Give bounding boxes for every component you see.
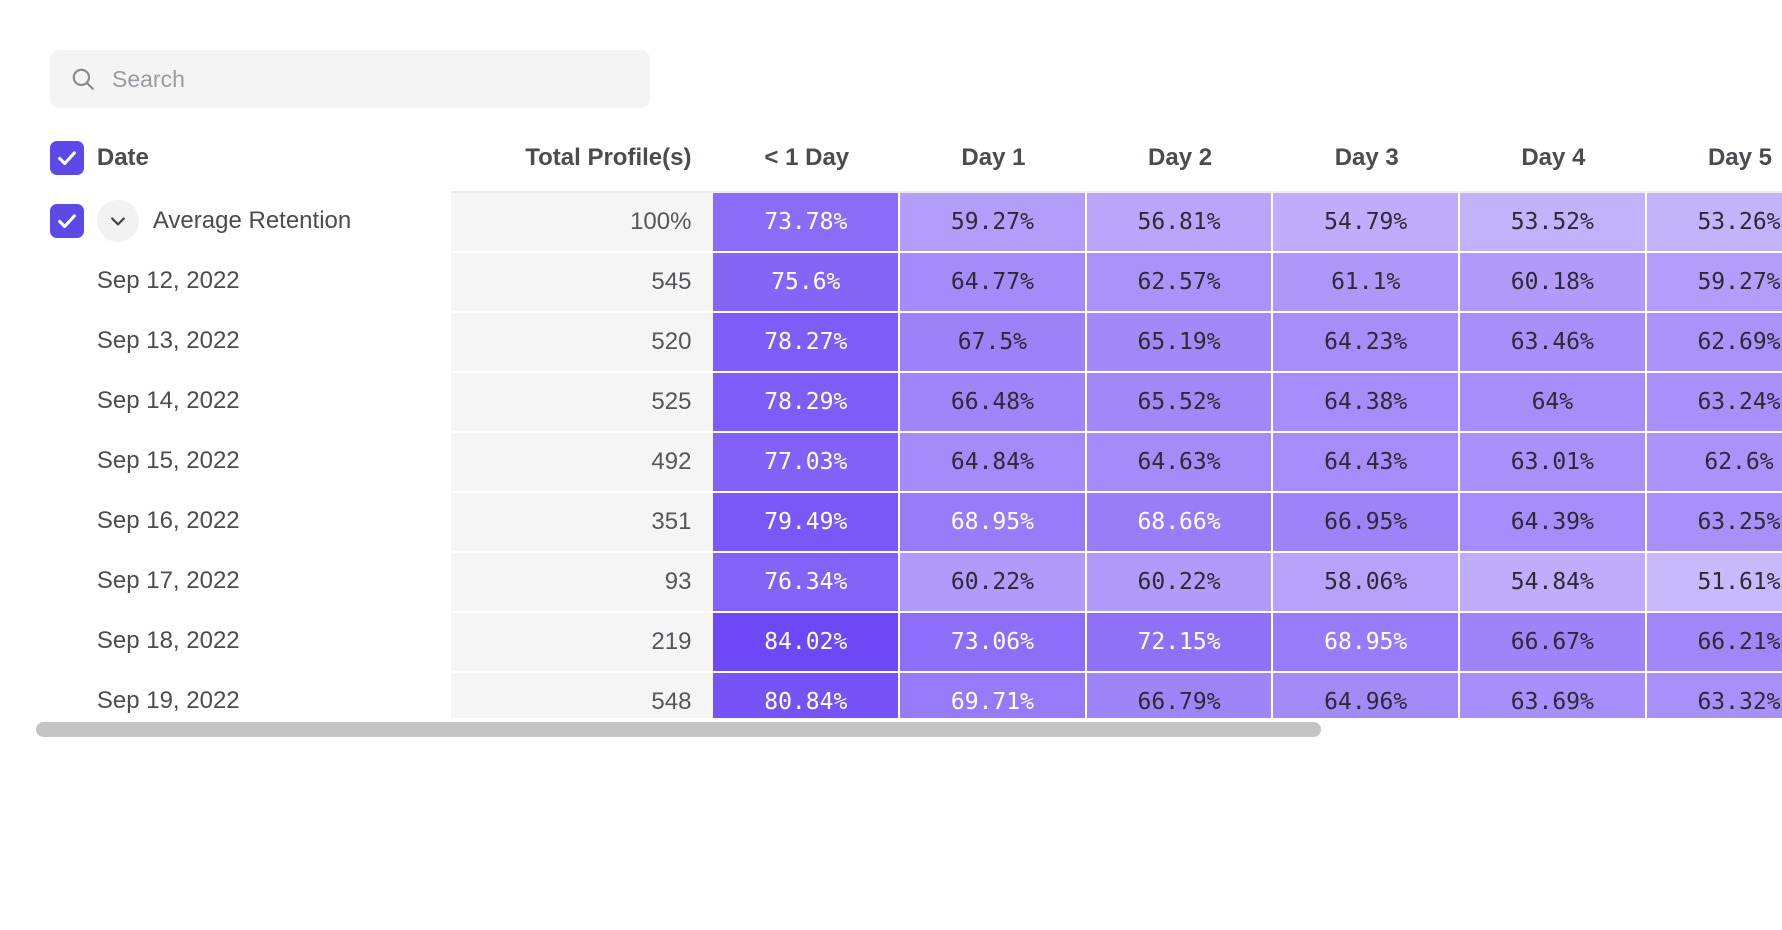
row-date: Sep 15, 2022	[97, 431, 451, 491]
retention-cell-day-4[interactable]: 63.69%	[1460, 671, 1647, 720]
retention-cell-day-4[interactable]: 54.84%	[1460, 551, 1647, 611]
row-total-profiles: 548	[451, 671, 713, 720]
retention-cell-day-3[interactable]: 66.95%	[1273, 491, 1460, 551]
row-total-profiles: 492	[451, 431, 713, 491]
retention-cell-day-0[interactable]: 77.03%	[713, 431, 900, 491]
summary-row: Average Retention100%73.78%59.27%56.81%5…	[0, 191, 1782, 251]
retention-cell-day-0[interactable]: 78.29%	[713, 371, 900, 431]
table-body: Average Retention100%73.78%59.27%56.81%5…	[0, 191, 1782, 720]
row-date: Sep 19, 2022	[97, 671, 451, 720]
select-all-header	[0, 125, 97, 191]
retention-table-scroll-area[interactable]: Date Total Profile(s) < 1 Day Day 1 Day …	[0, 125, 1782, 720]
retention-cell-day-5[interactable]: 63.24%	[1647, 371, 1782, 431]
retention-cell-day-4[interactable]: 66.67%	[1460, 611, 1647, 671]
column-header-total-profiles[interactable]: Total Profile(s)	[451, 125, 713, 191]
column-header-day-2[interactable]: Day 2	[1087, 125, 1274, 191]
row-checkbox-cell	[0, 371, 97, 431]
column-header-date[interactable]: Date	[97, 125, 451, 191]
row-total-profiles: 351	[451, 491, 713, 551]
retention-cell-day-3[interactable]: 54.79%	[1273, 191, 1460, 251]
retention-cell-day-5[interactable]: 63.25%	[1647, 491, 1782, 551]
retention-cell-day-4[interactable]: 64%	[1460, 371, 1647, 431]
column-header-day-5[interactable]: Day 5	[1647, 125, 1782, 191]
retention-cell-day-2[interactable]: 68.66%	[1087, 491, 1274, 551]
header-row: Date Total Profile(s) < 1 Day Day 1 Day …	[0, 125, 1782, 191]
retention-cell-day-3[interactable]: 64.23%	[1273, 311, 1460, 371]
search-box[interactable]	[50, 50, 650, 108]
row-total-profiles: 525	[451, 371, 713, 431]
retention-cell-day-0[interactable]: 73.78%	[713, 191, 900, 251]
table-header: Date Total Profile(s) < 1 Day Day 1 Day …	[0, 125, 1782, 191]
row-date: Sep 17, 2022	[97, 551, 451, 611]
retention-cell-day-2[interactable]: 65.19%	[1087, 311, 1274, 371]
retention-cell-day-2[interactable]: 65.52%	[1087, 371, 1274, 431]
row-total-profiles: 520	[451, 311, 713, 371]
bottom-action-bar: Find Interesting Segments Receive an ema…	[0, 740, 1782, 930]
retention-cell-day-2[interactable]: 72.15%	[1087, 611, 1274, 671]
summary-row-label: Average Retention	[153, 207, 351, 235]
retention-cell-day-1[interactable]: 68.95%	[900, 491, 1087, 551]
table-row[interactable]: Sep 12, 202254575.6%64.77%62.57%61.1%60.…	[0, 251, 1782, 311]
row-checkbox-cell	[0, 251, 97, 311]
column-header-day-3[interactable]: Day 3	[1273, 125, 1460, 191]
retention-cell-day-1[interactable]: 60.22%	[900, 551, 1087, 611]
retention-cell-day-1[interactable]: 66.48%	[900, 371, 1087, 431]
summary-row-checkbox[interactable]	[50, 204, 84, 238]
retention-cell-day-0[interactable]: 79.49%	[713, 491, 900, 551]
table-row[interactable]: Sep 16, 202235179.49%68.95%68.66%66.95%6…	[0, 491, 1782, 551]
retention-cell-day-0[interactable]: 78.27%	[713, 311, 900, 371]
retention-cell-day-3[interactable]: 64.38%	[1273, 371, 1460, 431]
row-total-profiles: 545	[451, 251, 713, 311]
retention-cell-day-1[interactable]: 64.77%	[900, 251, 1087, 311]
retention-cell-day-2[interactable]: 60.22%	[1087, 551, 1274, 611]
horizontal-scrollbar-thumb[interactable]	[36, 722, 1321, 737]
column-header-day-1[interactable]: Day 1	[900, 125, 1087, 191]
retention-cell-day-1[interactable]: 69.71%	[900, 671, 1087, 720]
table-row[interactable]: Sep 17, 20229376.34%60.22%60.22%58.06%54…	[0, 551, 1782, 611]
retention-cell-day-3[interactable]: 64.96%	[1273, 671, 1460, 720]
retention-cell-day-2[interactable]: 56.81%	[1087, 191, 1274, 251]
retention-cell-day-5[interactable]: 51.61%	[1647, 551, 1782, 611]
summary-row-checkbox-cell	[0, 191, 97, 251]
retention-cell-day-5[interactable]: 62.6%	[1647, 431, 1782, 491]
row-checkbox-cell	[0, 551, 97, 611]
row-total-profiles: 93	[451, 551, 713, 611]
row-date: Sep 18, 2022	[97, 611, 451, 671]
table-row[interactable]: Sep 19, 202254880.84%69.71%66.79%64.96%6…	[0, 671, 1782, 720]
retention-cell-day-0[interactable]: 80.84%	[713, 671, 900, 720]
retention-cell-day-5[interactable]: 62.69%	[1647, 311, 1782, 371]
table-row[interactable]: Sep 15, 202249277.03%64.84%64.63%64.43%6…	[0, 431, 1782, 491]
retention-cell-day-2[interactable]: 62.57%	[1087, 251, 1274, 311]
summary-row-total-profiles: 100%	[451, 191, 713, 251]
retention-cell-day-3[interactable]: 58.06%	[1273, 551, 1460, 611]
column-header-day-4[interactable]: Day 4	[1460, 125, 1647, 191]
row-checkbox-cell	[0, 311, 97, 371]
retention-cell-day-5[interactable]: 53.26%	[1647, 191, 1782, 251]
search-input[interactable]	[112, 50, 630, 108]
retention-cell-day-2[interactable]: 64.63%	[1087, 431, 1274, 491]
retention-cell-day-4[interactable]: 60.18%	[1460, 251, 1647, 311]
column-header-lt-1-day[interactable]: < 1 Day	[713, 125, 900, 191]
row-checkbox-cell	[0, 491, 97, 551]
retention-cell-day-0[interactable]: 84.02%	[713, 611, 900, 671]
row-checkbox-cell	[0, 671, 97, 720]
row-date: Sep 12, 2022	[97, 251, 451, 311]
row-date: Sep 16, 2022	[97, 491, 451, 551]
retention-cell-day-4[interactable]: 63.46%	[1460, 311, 1647, 371]
row-checkbox-cell	[0, 611, 97, 671]
retention-cell-day-1[interactable]: 59.27%	[900, 191, 1087, 251]
retention-cell-day-3[interactable]: 61.1%	[1273, 251, 1460, 311]
retention-table: Date Total Profile(s) < 1 Day Day 1 Day …	[0, 125, 1782, 720]
retention-cell-day-1[interactable]: 67.5%	[900, 311, 1087, 371]
table-row[interactable]: Sep 13, 202252078.27%67.5%65.19%64.23%63…	[0, 311, 1782, 371]
select-all-checkbox[interactable]	[50, 141, 84, 175]
retention-cell-day-2[interactable]: 66.79%	[1087, 671, 1274, 720]
expand-collapse-button[interactable]	[97, 200, 139, 242]
search-icon	[70, 66, 96, 92]
retention-cell-day-4[interactable]: 53.52%	[1460, 191, 1647, 251]
row-total-profiles: 219	[451, 611, 713, 671]
retention-table-panel: Date Total Profile(s) < 1 Day Day 1 Day …	[0, 0, 1782, 930]
table-row[interactable]: Sep 18, 202221984.02%73.06%72.15%68.95%6…	[0, 611, 1782, 671]
retention-cell-day-5[interactable]: 63.32%	[1647, 671, 1782, 720]
retention-cell-day-5[interactable]: 66.21%	[1647, 611, 1782, 671]
retention-cell-day-4[interactable]: 63.01%	[1460, 431, 1647, 491]
row-date: Sep 13, 2022	[97, 311, 451, 371]
row-date: Sep 14, 2022	[97, 371, 451, 431]
retention-cell-day-1[interactable]: 64.84%	[900, 431, 1087, 491]
retention-cell-day-0[interactable]: 75.6%	[713, 251, 900, 311]
summary-row-label-cell: Average Retention	[97, 191, 451, 251]
retention-cell-day-4[interactable]: 64.39%	[1460, 491, 1647, 551]
retention-cell-day-5[interactable]: 59.27%	[1647, 251, 1782, 311]
table-row[interactable]: Sep 14, 202252578.29%66.48%65.52%64.38%6…	[0, 371, 1782, 431]
retention-cell-day-1[interactable]: 73.06%	[900, 611, 1087, 671]
row-checkbox-cell	[0, 431, 97, 491]
retention-cell-day-3[interactable]: 68.95%	[1273, 611, 1460, 671]
retention-cell-day-3[interactable]: 64.43%	[1273, 431, 1460, 491]
retention-cell-day-0[interactable]: 76.34%	[713, 551, 900, 611]
